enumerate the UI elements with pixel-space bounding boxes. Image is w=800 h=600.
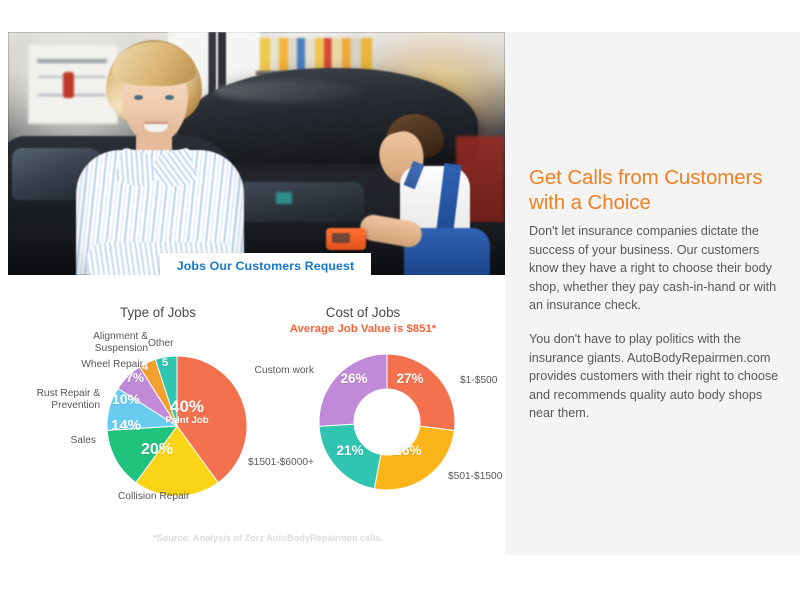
- pie-label-other: Other: [148, 338, 173, 350]
- pie-label-rust-line1: Rust Repair &: [18, 388, 100, 400]
- hero-photo: [8, 32, 505, 275]
- pie-chart-title: Type of Jobs: [68, 305, 248, 320]
- donut-label-band-3: $1501-$6000+: [226, 457, 314, 469]
- donut-svg: [318, 353, 456, 491]
- donut-chart-subtitle: Average Job Value is $851*: [263, 323, 463, 335]
- donut-subtitle-text: Average Job Value is $851*: [290, 323, 436, 335]
- donut-label-band-1: $1-$500: [460, 375, 497, 387]
- type-of-jobs-pie-chart: [106, 355, 248, 497]
- hood-sheen: [214, 80, 364, 102]
- pie-label-collision-repair: Collision Repair: [118, 491, 189, 503]
- woman-eye-left: [134, 95, 143, 100]
- fire-extinguisher: [63, 72, 74, 98]
- pie-label-alignment-line1: Alignment &: [58, 331, 148, 343]
- donut-chart-title: Cost of Jobs: [263, 305, 463, 320]
- pie-label-wheel-repair: Wheel Repair: [38, 359, 143, 371]
- pie-label-alignment-line2: Suspension: [58, 343, 148, 355]
- charts-area: Type of Jobs Cost of Jobs Average Job Va…: [8, 275, 505, 555]
- infographic-page: Get Calls from Customers with a Choice D…: [0, 0, 800, 600]
- pie-label-rust-line2: Prevention: [18, 400, 100, 412]
- donut-label-band-2: $501-$1500: [448, 471, 502, 483]
- source-note: *Source: Analysis of Zorz AutoBodyRepair…: [108, 533, 428, 543]
- woman-eye-right: [165, 95, 174, 100]
- slice-1-500: [387, 354, 455, 431]
- promo-paragraph-1: Don't let insurance companies dictate th…: [529, 222, 785, 315]
- promo-paragraph-2: You don't have to play politics with the…: [529, 330, 785, 423]
- pie-label-sales: Sales: [34, 435, 96, 447]
- promo-heading: Get Calls from Customers with a Choice: [529, 165, 787, 215]
- promo-panel: Get Calls from Customers with a Choice D…: [503, 32, 800, 555]
- pie-svg: [106, 355, 248, 497]
- slice-501-1500: [374, 426, 454, 490]
- slice-custom-work: [319, 354, 387, 426]
- windshield-tag: [276, 192, 292, 204]
- cost-of-jobs-donut-chart: [318, 353, 456, 491]
- bottom-divider: [0, 555, 800, 556]
- slice-1501-6000: [319, 424, 381, 489]
- donut-label-custom-work: Custom work: [228, 365, 314, 377]
- photo-caption-text: Jobs Our Customers Request: [177, 259, 355, 273]
- bottle-shelf: [260, 38, 372, 72]
- orange-diagnostic-tool: [326, 228, 366, 250]
